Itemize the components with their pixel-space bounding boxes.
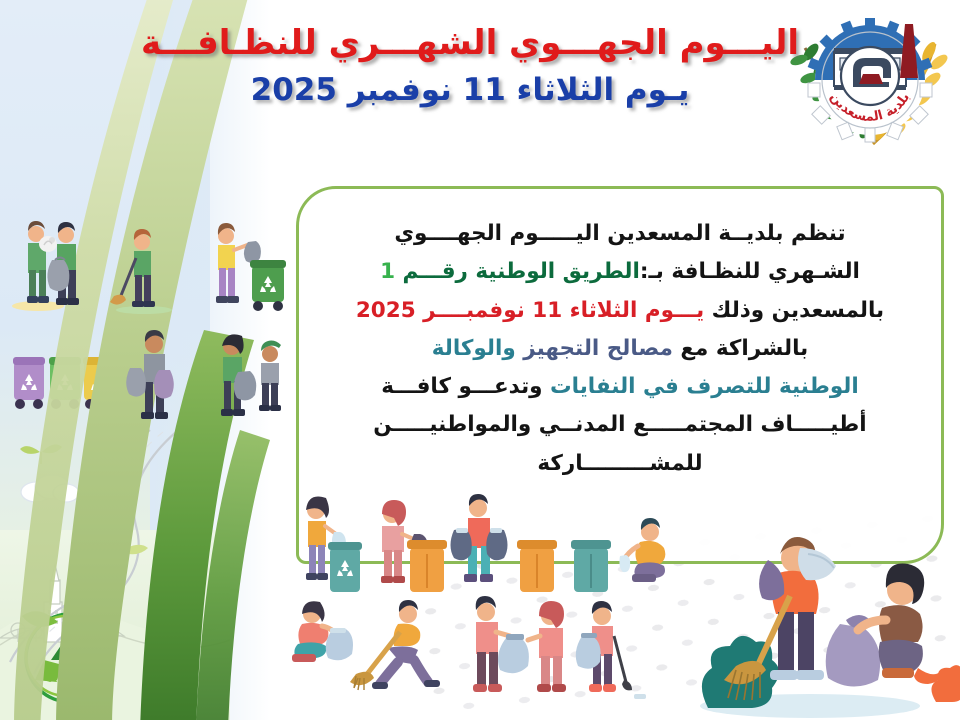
announcement-segment: الشـهري للنظـافة بـ: bbox=[640, 259, 860, 284]
garbage-bag-icon bbox=[826, 624, 880, 687]
announcement-segment: والوكالة bbox=[432, 336, 523, 361]
announcement-segment: مصالح التجهيز bbox=[523, 336, 680, 361]
announcement-segment: 1 bbox=[380, 259, 402, 284]
bin-teal-2 bbox=[571, 540, 611, 592]
illustration-cleanup-row bbox=[286, 594, 686, 720]
figure-woman-kneeling-bag bbox=[292, 601, 353, 662]
cloud-icon bbox=[16, 470, 82, 504]
small-plant-icon bbox=[931, 665, 960, 702]
sprout-icon bbox=[20, 444, 62, 464]
announcement-line: بالمسعدين وذلك يـــوم الثلاثاء 11 نوفمبـ… bbox=[325, 292, 915, 330]
poster-title-subtitle: يـوم الثلاثاء 11 نوفمبر 2025 bbox=[140, 71, 800, 110]
announcement-line: تنظم بلديــة المسعدين اليـــــوم الجهـــ… bbox=[325, 215, 915, 253]
figure-woman-and-boy bbox=[212, 330, 288, 422]
figure-man-sweeping bbox=[112, 228, 178, 314]
announcement-line: بالشراكة مع مصالح التجهيز والوكالة bbox=[325, 330, 915, 368]
announcement-line: للمشـــــــــاركة bbox=[325, 445, 915, 483]
figure-man-with-rake bbox=[724, 537, 836, 700]
poster-canvas: بلدية المسعدين اليـــوم الجهـــوي الشهــ… bbox=[0, 0, 960, 720]
bin-teal-1 bbox=[328, 542, 362, 592]
announcement-line: أطيـــــاف المجتمـــــع المدنــي والمواط… bbox=[325, 406, 915, 444]
announcement-segment: الطريق الوطنية رقـــم bbox=[403, 259, 640, 284]
municipality-emblem-logo: بلدية المسعدين bbox=[787, 8, 952, 173]
figure-pair-passing-bag bbox=[473, 596, 566, 692]
announcement-segment: يـــوم الثلاثاء 11 نوفمبــــر 2025 bbox=[356, 298, 712, 323]
figure-woman-hijab-bag bbox=[528, 601, 566, 692]
figure-man-sweeping-street bbox=[350, 600, 440, 690]
announcement-segment: للمشـــــــــاركة bbox=[537, 451, 702, 476]
illustration-bins-row bbox=[292, 492, 712, 610]
bin-orange-1 bbox=[407, 540, 447, 592]
announcement-segment: أطيـــــاف المجتمـــــع المدنــي والمواط… bbox=[373, 412, 866, 437]
poster-title-main: اليـــوم الجهـــوي الشهـــري للنظـافـــة bbox=[140, 22, 800, 65]
announcement-line: الشـهري للنظـافة بـ:الطريق الوطنية رقـــ… bbox=[325, 253, 915, 291]
recycling-bins-left bbox=[12, 352, 118, 414]
announcement-segment: بالمسعدين وذلك bbox=[712, 298, 884, 323]
figure-man-carrying-bags bbox=[451, 494, 508, 582]
figure-boy bbox=[259, 341, 281, 412]
announcement-text: تنظم بلديــة المسعدين اليـــــوم الجهـــ… bbox=[325, 215, 915, 483]
figure-two-volunteers bbox=[10, 218, 96, 310]
announcement-segment: بالشراكة مع bbox=[680, 336, 808, 361]
title-block: اليـــوم الجهـــوي الشهـــري للنظـافـــة… bbox=[140, 22, 800, 109]
bin-orange-2 bbox=[517, 540, 557, 592]
announcement-segment: تنظم بلديــة المسعدين اليـــــوم الجهـــ… bbox=[394, 221, 845, 246]
figure-man-two-bags bbox=[122, 328, 194, 424]
figure-man-with-bag bbox=[47, 222, 79, 305]
recycling-badge-icon bbox=[14, 598, 126, 710]
illustration-rake-scene bbox=[690, 520, 960, 720]
announcement-segment: الوطنية للتصرف في النفايات bbox=[550, 374, 859, 399]
announcement-segment: وتدعـــو كافـــة bbox=[381, 374, 550, 399]
figure-boy-kneeling bbox=[619, 518, 665, 582]
figure-boy-grabber bbox=[576, 601, 646, 699]
announcement-line: الوطنية للتصرف في النفايات وتدعـــو كافـ… bbox=[325, 368, 915, 406]
figure-woman-green-bin bbox=[206, 222, 292, 316]
